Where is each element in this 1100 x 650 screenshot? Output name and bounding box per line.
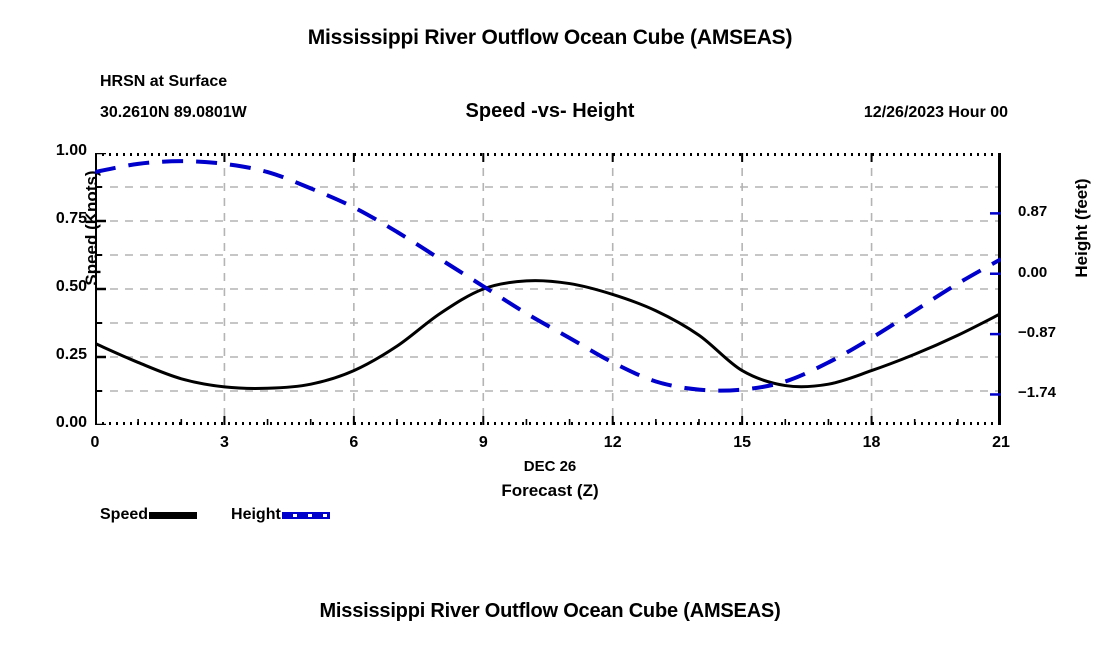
footer-title: Mississippi River Outflow Ocean Cube (AM… (0, 600, 1100, 623)
x-axis-title: Forecast (Z) (0, 481, 1100, 501)
y-tick-left-0: 0.00 (27, 414, 87, 432)
y-tick-left-2: 0.50 (27, 278, 87, 296)
x-tick-7: 21 (976, 434, 1026, 452)
legend-label-speed: Speed (100, 506, 148, 524)
y-tick-right-2: −0.87 (1018, 324, 1078, 341)
y-tick-left-3: 0.75 (27, 210, 87, 228)
plot-area (95, 153, 1001, 425)
x-tick-0: 0 (70, 434, 120, 452)
x-tick-4: 12 (588, 434, 638, 452)
y-tick-right-0: 0.87 (1018, 203, 1078, 220)
y-axis-right-title: Height (feet) (1072, 108, 1092, 348)
legend-swatch-speed (149, 512, 197, 519)
run-time-label: 12/26/2023 Hour 00 (864, 104, 1008, 122)
plot-svg (95, 153, 1001, 425)
station-label: HRSN at Surface (100, 73, 227, 91)
x-tick-2: 6 (329, 434, 379, 452)
legend-item-height: Height (231, 506, 364, 524)
x-tick-5: 15 (717, 434, 767, 452)
page-title: Mississippi River Outflow Ocean Cube (AM… (0, 26, 1100, 50)
y-tick-right-1: 0.00 (1018, 264, 1078, 281)
y-tick-left-4: 1.00 (27, 142, 87, 160)
chart-page: Mississippi River Outflow Ocean Cube (AM… (0, 0, 1100, 650)
x-tick-1: 3 (199, 434, 249, 452)
legend-swatch-height (282, 512, 330, 519)
y-tick-right-3: −1.74 (1018, 384, 1078, 401)
chart-legend: Speed Height (100, 506, 364, 524)
x-tick-3: 9 (458, 434, 508, 452)
gridlines (95, 153, 1001, 425)
x-tick-6: 18 (847, 434, 897, 452)
legend-item-speed: Speed (100, 506, 231, 524)
legend-label-height: Height (231, 506, 281, 524)
x-axis-day-label: DEC 26 (0, 458, 1100, 475)
y-tick-left-1: 0.25 (27, 346, 87, 364)
